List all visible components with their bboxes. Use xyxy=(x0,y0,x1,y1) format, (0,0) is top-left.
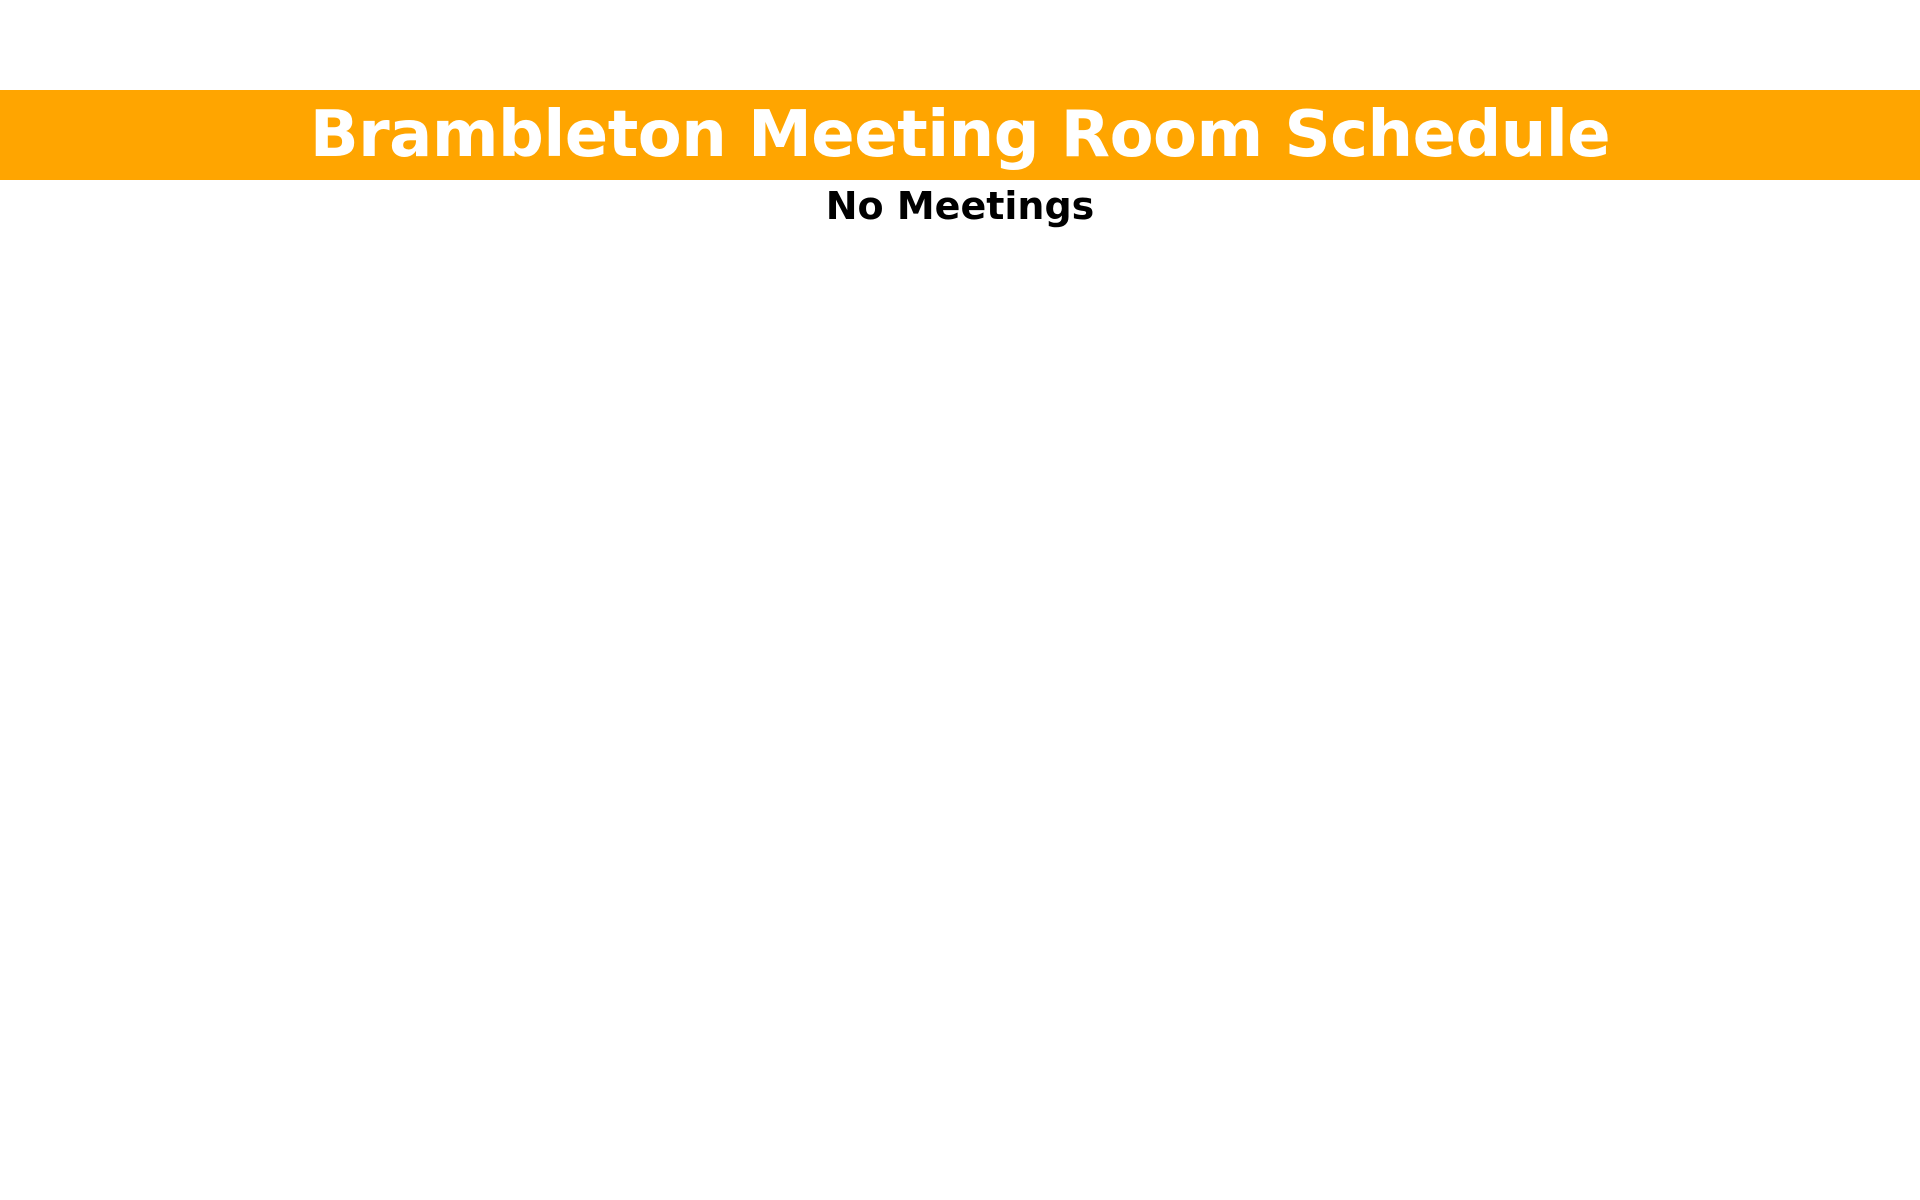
status-row: No Meetings xyxy=(0,186,1920,228)
meeting-list xyxy=(0,240,1920,1200)
page-title: Brambleton Meeting Room Schedule xyxy=(310,103,1610,167)
meeting-room-display-page: Brambleton Meeting Room Schedule No Meet… xyxy=(0,0,1920,1200)
no-meetings-status: No Meetings xyxy=(826,186,1095,228)
title-banner: Brambleton Meeting Room Schedule xyxy=(0,90,1920,180)
